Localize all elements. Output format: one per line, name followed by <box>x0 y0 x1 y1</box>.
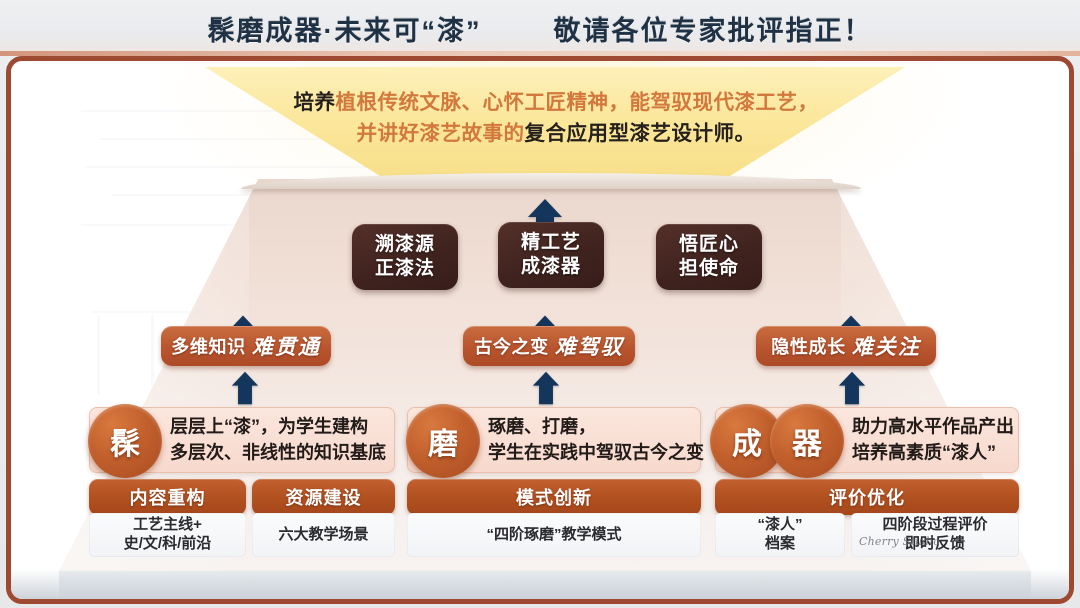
goal-box-line2: 担使命 <box>679 257 739 281</box>
funnel-line2-body: 复合应用型漆艺设计师。 <box>525 122 756 145</box>
base-bottom-fade <box>11 569 1069 599</box>
base-tile-line1: 六大教学场景 <box>278 526 368 545</box>
goal-box-jing-gong-yi[interactable]: 精工艺 成漆器 <box>498 222 604 288</box>
header-banner: 髹磨成器·未来可“漆” 敬请各位专家批评指正！ <box>0 0 1080 56</box>
action-bar-label: 资源建设 <box>286 484 362 510</box>
goal-box-su-qi-yuan[interactable]: 溯漆源 正漆法 <box>352 224 458 290</box>
base-tile-line2: 档案 <box>765 535 795 554</box>
funnel-line-1: 培养植根传统文脉、心怀工匠精神，能驾驭现代漆工艺， <box>201 87 911 118</box>
panel-xiu-text: 层层上“漆”，为学生建构 多层次、非线性的知识基底 <box>170 414 386 465</box>
base-tile-qi-ren-dang-an[interactable]: “漆人” 档案 <box>715 513 845 557</box>
panel-badge-mo: 磨 <box>406 404 480 478</box>
funnel-line-2: 并讲好漆艺故事的复合应用型漆艺设计师。 <box>201 118 911 149</box>
base-tile-line1: “漆人” <box>757 516 802 535</box>
base-tile-gong-yi-zhu-xian[interactable]: 工艺主线+ 史/文/科/前沿 <box>89 513 246 557</box>
cherry-studio-watermark: Cherry Studio <box>859 535 940 548</box>
action-bar-label: 评价优化 <box>829 484 905 510</box>
panel-text-line2: 培养高素质“漆人” <box>852 440 1014 466</box>
pain-point-gu-jin-zhi-bian[interactable]: 古今之变 难驾驭 <box>463 326 635 366</box>
panel-badge-label: 成 <box>732 419 762 463</box>
panel-text-line1: 助力高水平作品产出 <box>852 414 1014 440</box>
action-bar-zi-yuan-jian-she[interactable]: 资源建设 <box>252 479 395 515</box>
arrow-up-icon-panel-3 <box>838 371 866 405</box>
panel-text-line1: 琢磨、打磨， <box>488 414 704 440</box>
action-bar-label: 内容重构 <box>130 484 206 510</box>
action-bar-ping-jia-you-hua[interactable]: 评价优化 <box>715 479 1019 515</box>
goal-box-line1: 精工艺 <box>521 231 581 255</box>
panel-text-line1: 层层上“漆”，为学生建构 <box>170 414 386 440</box>
panel-xiu[interactable]: 髹 层层上“漆”，为学生建构 多层次、非线性的知识基底 <box>89 407 395 473</box>
action-bar-mo-shi-chuang-xin[interactable]: 模式创新 <box>407 479 701 515</box>
goal-box-wu-jiang-xin[interactable]: 悟匠心 担使命 <box>656 224 762 290</box>
pain-point-duo-wei-zhi-shi[interactable]: 多维知识 难贯通 <box>161 326 331 366</box>
pain-point-yin-xing-cheng-zhang[interactable]: 隐性成长 难关注 <box>756 326 936 366</box>
content-frame: 培养植根传统文脉、心怀工匠精神，能驾驭现代漆工艺， 并讲好漆艺故事的复合应用型漆… <box>6 56 1074 604</box>
pain-point-plain: 古今之变 <box>474 333 548 359</box>
pain-point-brush: 难贯通 <box>249 331 321 361</box>
panel-cheng-qi[interactable]: 成 器 助力高水平作品产出 培养高素质“漆人” <box>715 407 1019 473</box>
pain-point-plain: 多维知识 <box>171 333 245 359</box>
base-tile-line1: 四阶段过程评价 <box>882 516 987 535</box>
panel-badge-qi: 器 <box>770 404 844 478</box>
pain-point-brush: 难关注 <box>849 331 921 361</box>
panel-badge-label: 磨 <box>428 419 458 463</box>
arrow-up-icon-panel-1 <box>231 371 259 405</box>
arrow-up-icon-panel-2 <box>532 371 560 405</box>
action-bar-nei-rong-chong-gou[interactable]: 内容重构 <box>89 479 246 515</box>
header-title-left: 髹磨成器·未来可“漆” <box>208 9 482 48</box>
pain-point-brush: 难驾驭 <box>552 331 624 361</box>
panel-text-line2: 学生在实践中驾驭古今之变 <box>488 440 704 466</box>
base-tile-si-jie-zhuo-mo[interactable]: “四阶琢磨”教学模式 <box>407 513 701 557</box>
base-tile-line2: 史/文/科/前沿 <box>124 535 212 554</box>
pyramid-cap <box>241 173 861 189</box>
goal-box-line2: 正漆法 <box>375 257 435 281</box>
goal-box-line1: 悟匠心 <box>679 233 739 257</box>
base-tile-line1: 工艺主线+ <box>133 516 202 535</box>
slide-canvas: 髹磨成器·未来可“漆” 敬请各位专家批评指正！ <box>0 0 1080 608</box>
panel-badge-label: 器 <box>792 419 822 463</box>
content-frame-inner: 培养植根传统文脉、心怀工匠精神，能驾驭现代漆工艺， 并讲好漆艺故事的复合应用型漆… <box>11 61 1069 599</box>
base-tile-line1: “四阶琢磨”教学模式 <box>486 526 621 545</box>
panel-mo[interactable]: 磨 琢磨、打磨， 学生在实践中驾驭古今之变 <box>407 407 701 473</box>
action-bar-label: 模式创新 <box>516 484 592 510</box>
panel-badge-label: 髹 <box>110 419 140 463</box>
header-title-right: 敬请各位专家批评指正！ <box>554 9 873 48</box>
funnel-line1-body: 植根传统文脉、心怀工匠精神，能驾驭现代漆工艺， <box>336 91 819 114</box>
goal-box-line2: 成漆器 <box>521 255 581 279</box>
funnel-line2-lead: 并讲好漆艺故事的 <box>357 122 525 145</box>
panel-mo-text: 琢磨、打磨， 学生在实践中驾驭古今之变 <box>488 414 704 465</box>
funnel-line1-lead: 培养 <box>294 91 336 114</box>
panel-badge-xiu: 髹 <box>88 404 162 478</box>
panel-cheng-qi-text: 助力高水平作品产出 培养高素质“漆人” <box>852 414 1014 465</box>
funnel-goal-text: 培养植根传统文脉、心怀工匠精神，能驾驭现代漆工艺， 并讲好漆艺故事的复合应用型漆… <box>201 87 911 149</box>
goal-box-line1: 溯漆源 <box>375 233 435 257</box>
panel-text-line2: 多层次、非线性的知识基底 <box>170 440 386 466</box>
base-tile-liu-da-chang-jing[interactable]: 六大教学场景 <box>252 513 395 557</box>
pain-point-plain: 隐性成长 <box>771 333 845 359</box>
